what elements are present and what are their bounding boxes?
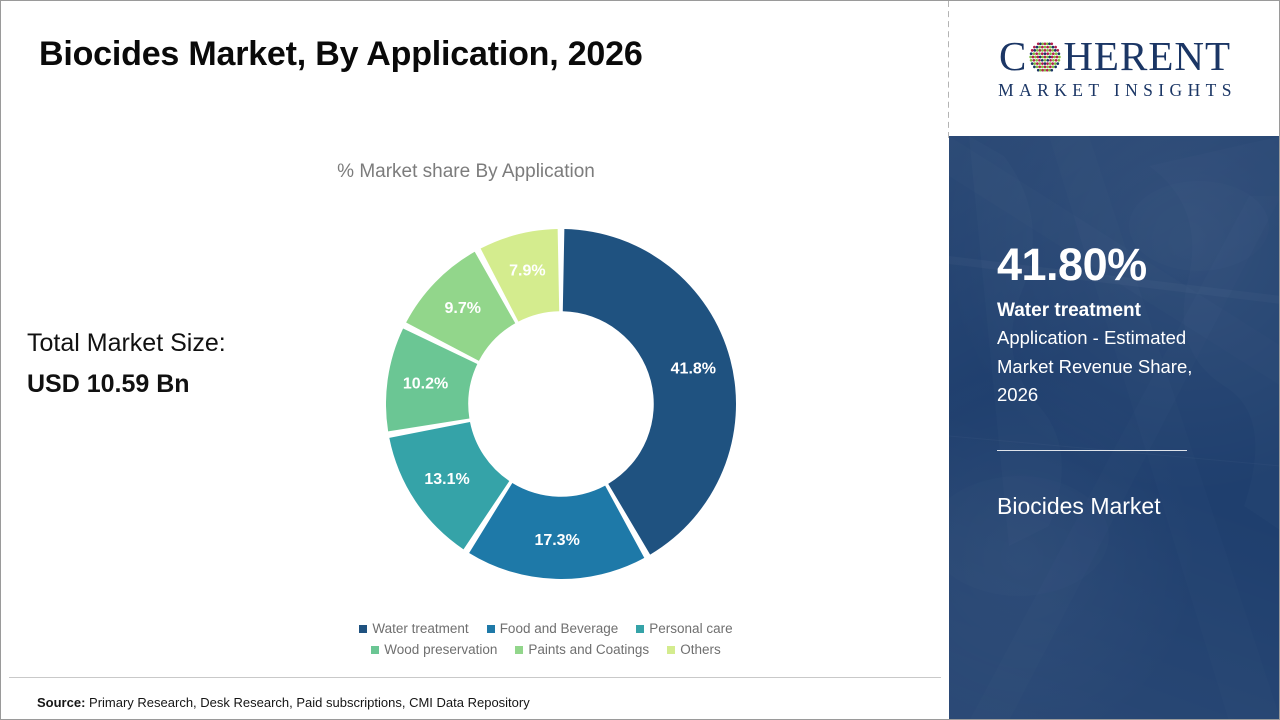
legend-label: Food and Beverage	[500, 621, 619, 636]
donut-slice-group	[386, 229, 736, 579]
legend-item[interactable]: Water treatment	[359, 621, 468, 636]
donut-chart: 41.8%17.3%13.1%10.2%9.7%7.9%	[386, 229, 736, 579]
chart-legend: Water treatmentFood and BeveragePersonal…	[336, 621, 756, 657]
legend-label: Others	[680, 642, 721, 657]
chart-subtitle: % Market share By Application	[1, 161, 931, 183]
legend-label: Water treatment	[372, 621, 468, 636]
source-text: Primary Research, Desk Research, Paid su…	[85, 695, 529, 710]
logo-tagline: MARKET INSIGHTS	[993, 80, 1237, 101]
globe-icon	[1028, 40, 1062, 74]
legend-swatch-icon	[636, 625, 644, 633]
donut-slice-label: 9.7%	[444, 300, 480, 317]
donut-slice-label: 10.2%	[403, 376, 448, 393]
legend-label: Personal care	[649, 621, 732, 636]
donut-chart-svg: 41.8%17.3%13.1%10.2%9.7%7.9%	[386, 229, 736, 579]
total-market-label: Total Market Size:	[27, 329, 226, 357]
infographic-root: Biocides Market, By Application, 2026 % …	[0, 0, 1280, 720]
legend-label: Wood preservation	[384, 642, 497, 657]
legend-swatch-icon	[667, 646, 675, 654]
legend-label: Paints and Coatings	[528, 642, 649, 657]
donut-slice-label: 17.3%	[534, 532, 579, 549]
legend-item[interactable]: Food and Beverage	[487, 621, 619, 636]
logo-wordmark: C HERENT	[999, 36, 1231, 77]
legend-swatch-icon	[487, 625, 495, 633]
legend-swatch-icon	[359, 625, 367, 633]
legend-item[interactable]: Others	[667, 642, 721, 657]
total-market-size: Total Market Size: USD 10.59 Bn	[27, 323, 226, 404]
panel-divider	[997, 450, 1187, 451]
company-logo: C HERENT MARKET INSIGHTS	[949, 1, 1280, 136]
globe-icon-svg	[1028, 40, 1062, 74]
legend-item[interactable]: Wood preservation	[371, 642, 497, 657]
source-line: Source: Primary Research, Desk Research,…	[37, 695, 530, 710]
statistic-description: Application - Estimated Market Revenue S…	[997, 324, 1237, 410]
panel-content: 41.80% Water treatment Application - Est…	[997, 241, 1237, 521]
legend-item[interactable]: Personal care	[636, 621, 732, 636]
left-content-pane: Biocides Market, By Application, 2026 % …	[1, 1, 949, 720]
logo-letter-c: C	[999, 36, 1027, 77]
legend-swatch-icon	[515, 646, 523, 654]
legend-item[interactable]: Paints and Coatings	[515, 642, 649, 657]
donut-slice-label: 41.8%	[671, 360, 716, 377]
donut-slice-label: 13.1%	[424, 471, 469, 488]
highlight-panel: 41.80% Water treatment Application - Est…	[949, 136, 1280, 720]
source-label: Source:	[37, 695, 85, 710]
total-market-value: USD 10.59 Bn	[27, 364, 226, 405]
donut-slice-label: 7.9%	[509, 263, 545, 280]
page-title: Biocides Market, By Application, 2026	[39, 35, 643, 74]
statistic-segment-name: Water treatment	[997, 299, 1237, 323]
logo-letters-herent: HERENT	[1063, 36, 1231, 77]
right-panel: C HERENT MARKET INSIGHTS	[949, 1, 1280, 720]
footer-divider	[9, 677, 941, 678]
legend-swatch-icon	[371, 646, 379, 654]
panel-market-name: Biocides Market	[997, 493, 1237, 521]
headline-statistic: 41.80%	[997, 241, 1237, 288]
